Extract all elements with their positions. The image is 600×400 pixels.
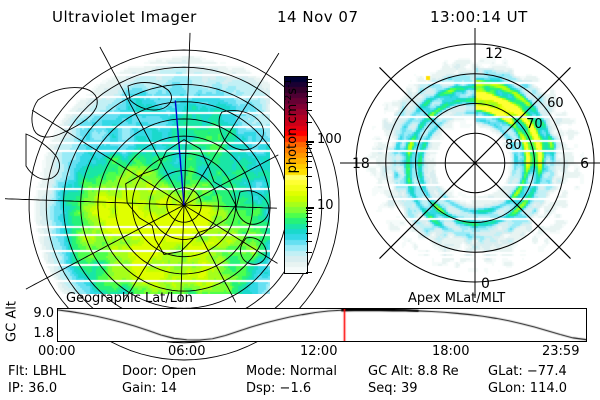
colorbar-minor-tick [306, 233, 312, 234]
colorbar-minor-tick [306, 91, 312, 92]
status-block: Flt: LBHL Door: Open Mode: Normal GC Alt… [0, 364, 600, 398]
colorbar-minor-tick [306, 210, 312, 211]
colorbar-major-tick [306, 141, 314, 143]
colorbar-minor-tick [306, 79, 312, 80]
svg-text:18: 18 [352, 156, 370, 172]
colorbar-minor-tick [306, 272, 312, 273]
svg-text:6: 6 [580, 156, 589, 172]
svg-text:70: 70 [526, 117, 543, 132]
gc-altitude-panel[interactable]: 9.0 1.8 GC Alt [0, 308, 600, 344]
colorbar-minor-tick [306, 86, 312, 87]
gc-altitude-plot-box[interactable] [57, 308, 587, 342]
apex-mlat-mlt-plot[interactable]: 121860607080 [348, 42, 592, 292]
svg-text:0: 0 [481, 276, 490, 292]
gc-altitude-curve [58, 309, 586, 341]
time-tick-label: 06:00 [168, 344, 205, 359]
colorbar-minor-tick [306, 122, 312, 123]
colorbar-minor-tick [306, 102, 312, 103]
colorbar-minor-tick [306, 221, 312, 222]
gc-altitude-tick-high: 9.0 [18, 306, 54, 321]
colorbar-minor-tick [306, 241, 312, 242]
colorbar-minor-tick [306, 152, 312, 153]
status-gain: Gain: 14 [122, 381, 177, 396]
status-ip: IP: 36.0 [8, 381, 57, 396]
colorbar-minor-tick [306, 144, 312, 145]
colorbar-minor-tick [306, 187, 312, 188]
colorbar-units-mid: s [285, 88, 300, 95]
instrument-name: Ultraviolet Imager [52, 8, 197, 26]
colorbar-minor-tick [306, 96, 312, 97]
geographic-grid-overlay [8, 42, 270, 294]
colorbar-ticks: 10010 [306, 75, 348, 273]
colorbar-major-tick [306, 207, 314, 209]
status-seq: Seq: 39 [368, 381, 418, 396]
status-flt: Flt: LBHL [8, 364, 66, 379]
colorbar-minor-tick [306, 110, 312, 111]
apex-plot-caption: Apex MLat/MLT [408, 291, 505, 306]
colorbar-units-main: photon cm [285, 104, 300, 174]
svg-text:80: 80 [505, 138, 522, 153]
colorbar-tick-label: 10 [317, 200, 334, 212]
geographic-polar-plot[interactable] [8, 42, 270, 294]
time-axis-ticks: 00:0006:0012:0018:0023:59 [0, 344, 600, 360]
time-tick-label: 00:00 [38, 344, 75, 359]
colorbar-minor-tick [306, 176, 312, 177]
status-glat: GLat: −77.4 [488, 364, 567, 379]
svg-text:12: 12 [485, 46, 503, 62]
colorbar[interactable]: 10010 photon cm-2s-1 [268, 60, 348, 292]
status-door: Door: Open [122, 364, 196, 379]
observation-time: 13:00:14 UT [430, 8, 528, 26]
time-tick-label: 23:59 [542, 344, 579, 359]
colorbar-units-exp1: -2 [284, 95, 294, 104]
svg-text:60: 60 [547, 96, 564, 111]
colorbar-units-exp2: -1 [284, 79, 294, 88]
colorbar-axis-title: photon cm-2s-1 [284, 46, 300, 206]
colorbar-minor-tick [306, 217, 312, 218]
colorbar-minor-tick [306, 213, 312, 214]
colorbar-minor-tick [306, 226, 312, 227]
status-dsp: Dsp: −1.6 [246, 381, 311, 396]
time-tick-label: 18:00 [432, 344, 469, 359]
time-tick-label: 12:00 [300, 344, 337, 359]
geographic-plot-caption: Geographic Lat/Lon [66, 291, 193, 306]
colorbar-minor-tick [306, 252, 312, 253]
status-glon: GLon: 114.0 [488, 381, 567, 396]
colorbar-tick-label: 100 [317, 134, 342, 146]
colorbar-minor-tick [306, 161, 312, 162]
gc-altitude-tick-low: 1.8 [18, 326, 54, 341]
title-bar: Ultraviolet Imager 14 Nov 07 13:00:14 UT [0, 6, 600, 32]
colorbar-minor-tick [306, 82, 312, 83]
colorbar-minor-tick [306, 148, 312, 149]
observation-date: 14 Nov 07 [277, 8, 359, 26]
colorbar-minor-tick [306, 156, 312, 157]
colorbar-minor-tick [306, 167, 312, 168]
status-mode: Mode: Normal [246, 364, 337, 379]
status-gc-alt: GC Alt: 8.8 Re [368, 364, 459, 379]
apex-dial-overlay: 121860607080 [348, 42, 592, 292]
gc-altitude-axis-label: GC Alt [5, 294, 20, 350]
